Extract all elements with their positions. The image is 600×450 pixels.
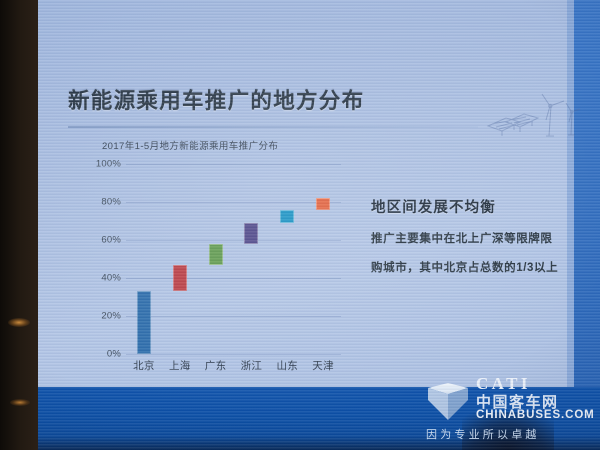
chart-subtitle: 2017年1-5月地方新能源乘用车推广分布 bbox=[102, 138, 278, 152]
cube-logo-icon bbox=[424, 380, 472, 429]
annotation-line-1: 推广主要集中在北上广深等限牌限 bbox=[371, 230, 589, 246]
watermark-slogan: 因为专业所以卓越 bbox=[426, 426, 540, 442]
slide-accent-stripe bbox=[567, 0, 574, 387]
bar-广东 bbox=[209, 244, 223, 265]
y-axis-tick-label: 60% bbox=[101, 235, 121, 246]
x-axis-tick-label: 上海 bbox=[169, 358, 191, 373]
wall-light-glint-secondary bbox=[10, 399, 30, 406]
x-axis-tick-label: 天津 bbox=[312, 358, 334, 373]
x-axis-tick-label: 北京 bbox=[133, 358, 155, 373]
title-divider bbox=[68, 126, 478, 128]
watermark-url: CHINABUSES.COM bbox=[476, 409, 595, 421]
y-axis-tick-label: 20% bbox=[101, 311, 121, 322]
annotation-line-2: 购城市，其中北京占总数的1/3以上 bbox=[371, 259, 589, 275]
y-axis-tick-label: 0% bbox=[107, 349, 121, 360]
wall-light-glint bbox=[8, 318, 30, 327]
slide-title-wrap: 新能源乘用车推广的地方分布 bbox=[68, 84, 364, 115]
gridline: 100% bbox=[126, 164, 341, 165]
annotation-heading: 地区间发展不均衡 bbox=[371, 196, 589, 217]
gridline: 0% bbox=[126, 354, 341, 355]
gridline: 80% bbox=[126, 202, 341, 203]
bar-天津 bbox=[316, 198, 330, 209]
presentation-slide: 新能源乘用车推广的地方分布 bbox=[38, 0, 600, 450]
chart-region: 2017年1-5月地方新能源乘用车推广分布 0%20%40%60%80%100%… bbox=[68, 136, 353, 388]
bar-山东 bbox=[280, 210, 294, 223]
annotation-block: 地区间发展不均衡 推广主要集中在北上广深等限牌限 购城市，其中北京占总数的1/3… bbox=[371, 196, 589, 275]
y-axis-tick-label: 40% bbox=[101, 273, 121, 284]
y-axis-tick-label: 100% bbox=[96, 159, 121, 170]
gridline: 20% bbox=[126, 316, 341, 317]
slide-accent-column bbox=[574, 0, 600, 387]
x-axis-tick-label: 浙江 bbox=[241, 358, 263, 373]
x-axis-tick-label: 山东 bbox=[276, 358, 298, 373]
site-watermark: CATI 中国客车网 CHINABUSES.COM 因为专业所以卓越 bbox=[424, 374, 592, 446]
solar-panel-wind-turbine-sketch-icon bbox=[486, 92, 582, 143]
bar-上海 bbox=[173, 265, 187, 292]
y-axis-tick-label: 80% bbox=[101, 197, 121, 208]
chart-plot-area: 0%20%40%60%80%100%北京上海广东浙江山东天津 bbox=[126, 164, 341, 354]
gridline: 40% bbox=[126, 278, 341, 279]
room-wall-left bbox=[0, 0, 38, 450]
gridline: 60% bbox=[126, 240, 341, 241]
x-axis-tick-label: 广东 bbox=[205, 358, 227, 373]
page-title: 新能源乘用车推广的地方分布 bbox=[68, 84, 364, 115]
bar-北京 bbox=[137, 291, 151, 354]
bar-浙江 bbox=[244, 223, 258, 244]
